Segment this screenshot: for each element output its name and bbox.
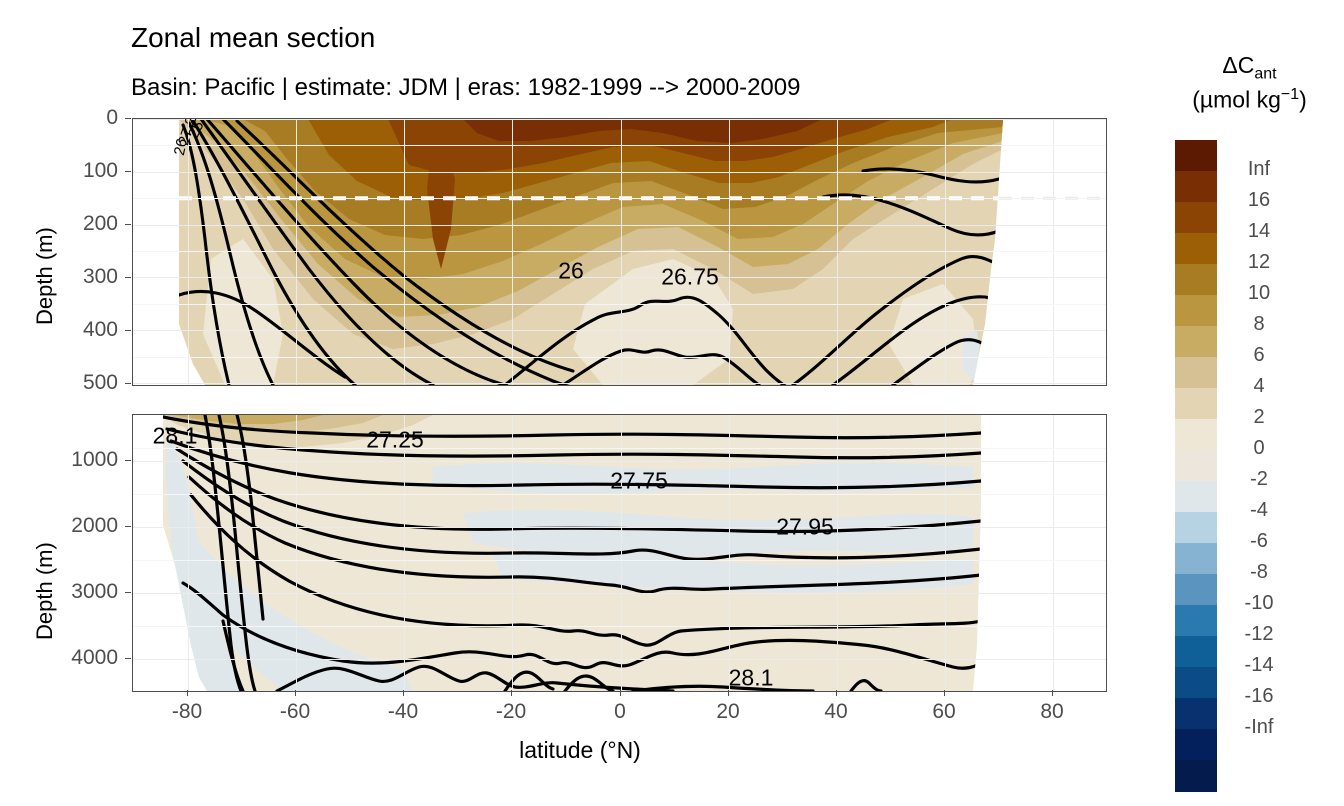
contour-label: 28.1 bbox=[153, 423, 198, 450]
upper-y-tick-label: 300 bbox=[60, 265, 118, 289]
upper-y-tick bbox=[125, 330, 131, 331]
contour-label: 26.75 bbox=[661, 264, 719, 291]
legend-delta-c: ΔC bbox=[1222, 52, 1254, 78]
x-tick-label: 80 bbox=[1040, 700, 1063, 724]
colorbar-swatch bbox=[1175, 233, 1217, 265]
upper-y-tick bbox=[125, 118, 131, 119]
x-tick bbox=[187, 690, 188, 696]
x-tick bbox=[295, 690, 296, 696]
colorbar-swatch bbox=[1175, 419, 1217, 451]
lower-plot-area: 28.1 27.25 27.75 27.95 28.1 bbox=[133, 415, 1106, 691]
upper-y-tick-label: 200 bbox=[60, 212, 118, 236]
x-tick-label: -60 bbox=[280, 700, 310, 724]
colorbar-swatch bbox=[1175, 140, 1217, 172]
colorbar-tick-labels: Inf1614121086420-2-4-6-8-10-12-14-16-Inf bbox=[1227, 140, 1337, 791]
colorbar-swatch bbox=[1175, 512, 1217, 544]
upper-y-tick bbox=[125, 171, 131, 172]
x-tick-label: -20 bbox=[496, 700, 526, 724]
colorbar-tick-label: 6 bbox=[1227, 344, 1291, 367]
contour-label: 27.95 bbox=[776, 514, 834, 541]
colorbar-tick-label: 12 bbox=[1227, 251, 1291, 274]
x-tick-label: 40 bbox=[824, 700, 847, 724]
colorbar-tick-label: 4 bbox=[1227, 375, 1291, 398]
legend-units-exponent: −1 bbox=[1281, 86, 1299, 103]
x-axis-label: latitude (°N) bbox=[0, 737, 1160, 764]
upper-y-tick-label: 400 bbox=[60, 318, 118, 342]
lower-y-tick bbox=[125, 460, 131, 461]
colorbar-tick-label: 2 bbox=[1227, 406, 1291, 429]
colorbar-legend: ΔCant (µmol kg−1) Inf1614121086420-2-4-6… bbox=[1155, 30, 1344, 770]
x-tick-label: 0 bbox=[614, 700, 626, 724]
colorbar-tick-label: 10 bbox=[1227, 282, 1291, 305]
colorbar-tick-label: 0 bbox=[1227, 437, 1291, 460]
colorbar-tick-label: -2 bbox=[1227, 468, 1291, 491]
page-title: Zonal mean section bbox=[131, 22, 375, 54]
colorbar-swatch bbox=[1175, 574, 1217, 606]
colorbar-swatch bbox=[1175, 388, 1217, 420]
lower-panel: 28.1 27.25 27.75 27.95 28.1 bbox=[132, 414, 1107, 692]
colorbar-swatch bbox=[1175, 636, 1217, 668]
colorbar-swatch bbox=[1175, 760, 1217, 792]
colorbar-swatch bbox=[1175, 264, 1217, 296]
lower-y-tick bbox=[125, 658, 131, 659]
upper-y-tick bbox=[125, 277, 131, 278]
contour-label: 26 bbox=[171, 137, 191, 157]
upper-y-tick-label: 500 bbox=[60, 371, 118, 395]
colorbar-swatch bbox=[1175, 667, 1217, 699]
colorbar-swatch bbox=[1175, 543, 1217, 575]
colorbar-swatch bbox=[1175, 605, 1217, 637]
contour-label: 27.25 bbox=[366, 427, 424, 454]
legend-title-main: ΔCant bbox=[1155, 52, 1344, 84]
x-tick bbox=[836, 690, 837, 696]
colorbar-swatches bbox=[1175, 140, 1217, 791]
colorbar-tick-label: -4 bbox=[1227, 499, 1291, 522]
colorbar-swatch bbox=[1175, 357, 1217, 389]
colorbar-swatch bbox=[1175, 450, 1217, 482]
x-tick bbox=[511, 690, 512, 696]
lower-y-tick-label: 4000 bbox=[40, 646, 118, 670]
x-tick bbox=[944, 690, 945, 696]
contour-label: 28.1 bbox=[729, 665, 774, 692]
upper-y-tick-label: 100 bbox=[60, 159, 118, 183]
colorbar-tick-label: 16 bbox=[1227, 189, 1291, 212]
x-tick-label: -80 bbox=[172, 700, 202, 724]
chart-root: Zonal mean section Basin: Pacific | esti… bbox=[0, 0, 1344, 806]
colorbar-tick-label: -10 bbox=[1227, 592, 1291, 615]
lower-y-tick bbox=[125, 592, 131, 593]
x-tick-label: -40 bbox=[388, 700, 418, 724]
lower-y-tick bbox=[125, 526, 131, 527]
colorbar-tick-label: -14 bbox=[1227, 654, 1291, 677]
colorbar-swatch bbox=[1175, 202, 1217, 234]
contour-label: 26 bbox=[558, 258, 584, 285]
x-tick bbox=[1052, 690, 1053, 696]
colorbar-tick-label: -8 bbox=[1227, 561, 1291, 584]
colorbar-tick-label: -16 bbox=[1227, 685, 1291, 708]
legend-units-post: ) bbox=[1299, 87, 1307, 113]
legend-units-pre: (µmol kg bbox=[1192, 87, 1281, 113]
colorbar-swatch bbox=[1175, 481, 1217, 513]
upper-y-axis-label: Depth (m) bbox=[32, 227, 58, 325]
upper-y-tick bbox=[125, 224, 131, 225]
lower-y-tick-label: 3000 bbox=[40, 580, 118, 604]
colorbar-tick-label: -Inf bbox=[1227, 716, 1291, 739]
colorbar-tick-label: 14 bbox=[1227, 220, 1291, 243]
x-tick-label: 20 bbox=[716, 700, 739, 724]
lower-y-tick-label: 1000 bbox=[40, 448, 118, 472]
legend-title-units: (µmol kg−1) bbox=[1155, 86, 1344, 114]
colorbar-swatch bbox=[1175, 698, 1217, 730]
upper-field-contours bbox=[133, 119, 1106, 385]
colorbar-swatch bbox=[1175, 729, 1217, 761]
upper-y-tick-label: 0 bbox=[60, 106, 118, 130]
colorbar-tick-label: -12 bbox=[1227, 623, 1291, 646]
colorbar-tick-label: 8 bbox=[1227, 313, 1291, 336]
chart-subtitle: Basin: Pacific | estimate: JDM | eras: 1… bbox=[131, 74, 800, 102]
x-tick bbox=[403, 690, 404, 696]
x-tick-label: 60 bbox=[932, 700, 955, 724]
contour-label: 27.75 bbox=[610, 468, 668, 495]
upper-y-tick bbox=[125, 383, 131, 384]
legend-subscript: ant bbox=[1254, 66, 1276, 83]
colorbar-tick-label: Inf bbox=[1227, 158, 1291, 181]
lower-field-contours bbox=[133, 415, 1106, 691]
x-tick bbox=[620, 690, 621, 696]
colorbar-swatch bbox=[1175, 295, 1217, 327]
upper-plot-area: 26 26.75 27.25 26 25.5 bbox=[133, 119, 1106, 385]
lower-y-tick-label: 2000 bbox=[40, 514, 118, 538]
upper-panel: 26 26.75 27.25 26 25.5 bbox=[132, 118, 1107, 386]
colorbar-swatch bbox=[1175, 171, 1217, 203]
x-tick bbox=[728, 690, 729, 696]
colorbar-swatch bbox=[1175, 326, 1217, 358]
colorbar-tick-label: -6 bbox=[1227, 530, 1291, 553]
